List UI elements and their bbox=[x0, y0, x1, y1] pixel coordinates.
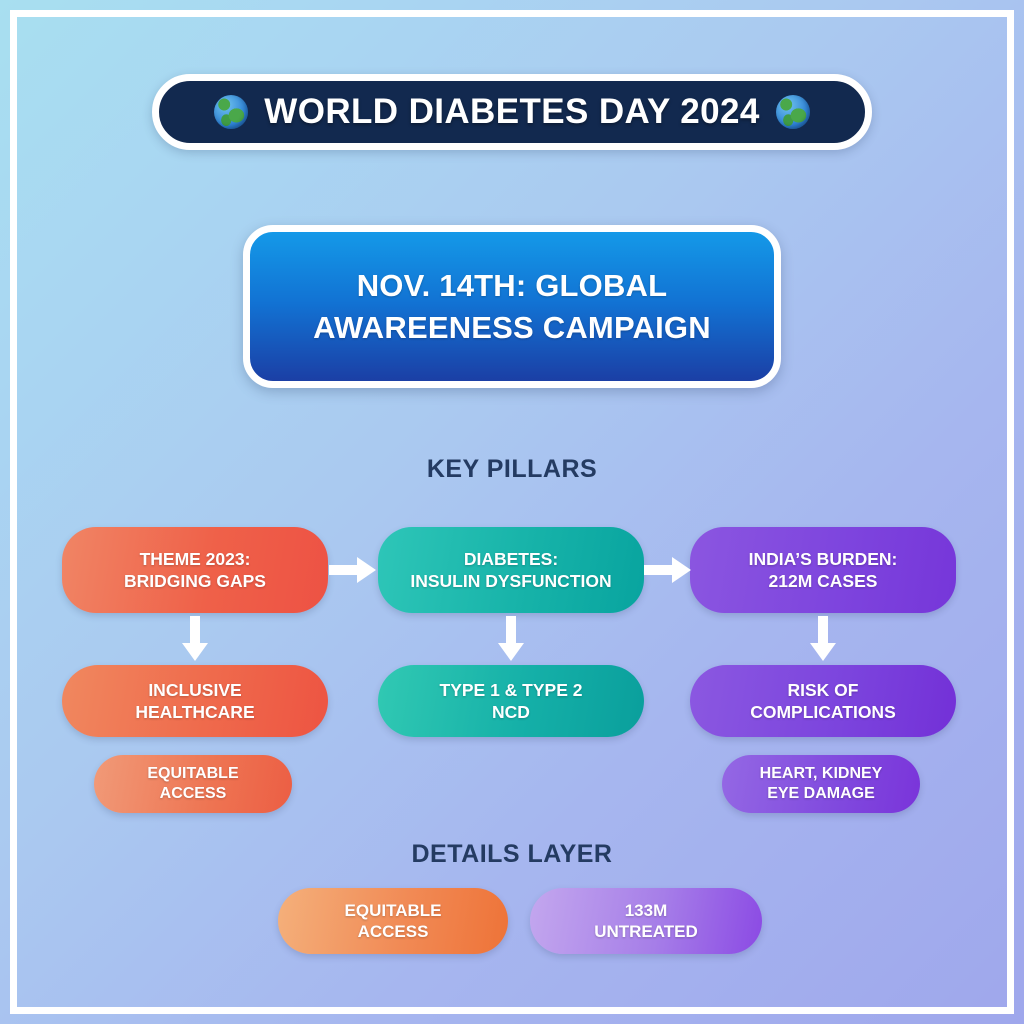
pillar-card-risk-of-complications[interactable]: RISK OF COMPLICATIONS bbox=[690, 665, 956, 737]
pillar-theme-line-1: THEME 2023: bbox=[124, 548, 266, 570]
pillar-card-equitable-access[interactable]: EQUITABLE ACCESS bbox=[94, 755, 292, 813]
diabetes-line-2: INSULIN DYSFUNCTION bbox=[410, 570, 611, 592]
arrow-down-icon-column-1 bbox=[181, 616, 209, 662]
pillar-card-inclusive-healthcare[interactable]: INCLUSIVE HEALTHCARE bbox=[62, 665, 328, 737]
infographic-canvas: WORLD DIABETES DAY 2024 NOV. 14TH: GLOBA… bbox=[0, 0, 1024, 1024]
detail-card-equitable-access[interactable]: EQUITABLE ACCESS bbox=[278, 888, 508, 954]
pillar-card-diabetes[interactable]: DIABETES: INSULIN DYSFUNCTION bbox=[378, 527, 644, 613]
detail-untreated-line-2: UNTREATED bbox=[594, 921, 698, 942]
inclusive-line-1: INCLUSIVE bbox=[135, 679, 254, 701]
arrow-down-icon-column-3 bbox=[809, 616, 837, 662]
inclusive-line-2: HEALTHCARE bbox=[135, 701, 254, 723]
risk-line-1: RISK OF bbox=[750, 679, 896, 701]
detail-card-untreated[interactable]: 133M UNTREATED bbox=[530, 888, 762, 954]
detail-equitable-line-1: EQUITABLE bbox=[345, 900, 442, 921]
india-line-2: 212M CASES bbox=[749, 570, 898, 592]
subtitle-line-2: AWAREENESS CAMPAIGN bbox=[313, 307, 711, 348]
detail-equitable-line-2: ACCESS bbox=[345, 921, 442, 942]
pillar-card-heart-kidney-eye-damage[interactable]: HEART, KIDNEY EYE DAMAGE bbox=[722, 755, 920, 813]
key-pillars-heading: KEY PILLARS bbox=[0, 455, 1024, 484]
heart-line-1: HEART, KIDNEY bbox=[760, 764, 883, 784]
details-layer-heading: DETAILS LAYER bbox=[0, 840, 1024, 869]
arrow-right-icon-diabetes-to-india bbox=[644, 556, 692, 584]
page-title: WORLD DIABETES DAY 2024 bbox=[264, 92, 759, 132]
pillar-theme-line-2: BRIDGING GAPS bbox=[124, 570, 266, 592]
globe-icon-right bbox=[776, 95, 810, 129]
title-banner: WORLD DIABETES DAY 2024 bbox=[152, 74, 872, 150]
diabetes-line-1: DIABETES: bbox=[410, 548, 611, 570]
pillar-card-india-burden[interactable]: INDIA’S BURDEN: 212M CASES bbox=[690, 527, 956, 613]
risk-line-2: COMPLICATIONS bbox=[750, 701, 896, 723]
arrow-down-icon-column-2 bbox=[497, 616, 525, 662]
subtitle-line-1: NOV. 14TH: GLOBAL bbox=[313, 265, 711, 306]
type12-line-1: TYPE 1 & TYPE 2 bbox=[440, 679, 583, 701]
detail-untreated-line-1: 133M bbox=[594, 900, 698, 921]
pillar-card-theme[interactable]: THEME 2023: BRIDGING GAPS bbox=[62, 527, 328, 613]
equitable-access-line-1: EQUITABLE bbox=[147, 764, 238, 784]
arrow-right-icon-theme-to-diabetes bbox=[329, 556, 377, 584]
globe-icon-left bbox=[214, 95, 248, 129]
pillar-card-type-1-and-2[interactable]: TYPE 1 & TYPE 2 NCD bbox=[378, 665, 644, 737]
subtitle-card: NOV. 14TH: GLOBAL AWAREENESS CAMPAIGN bbox=[243, 225, 781, 388]
subtitle-text: NOV. 14TH: GLOBAL AWAREENESS CAMPAIGN bbox=[313, 265, 711, 347]
equitable-access-line-2: ACCESS bbox=[147, 784, 238, 804]
heart-line-2: EYE DAMAGE bbox=[760, 784, 883, 804]
type12-line-2: NCD bbox=[440, 701, 583, 723]
india-line-1: INDIA’S BURDEN: bbox=[749, 548, 898, 570]
